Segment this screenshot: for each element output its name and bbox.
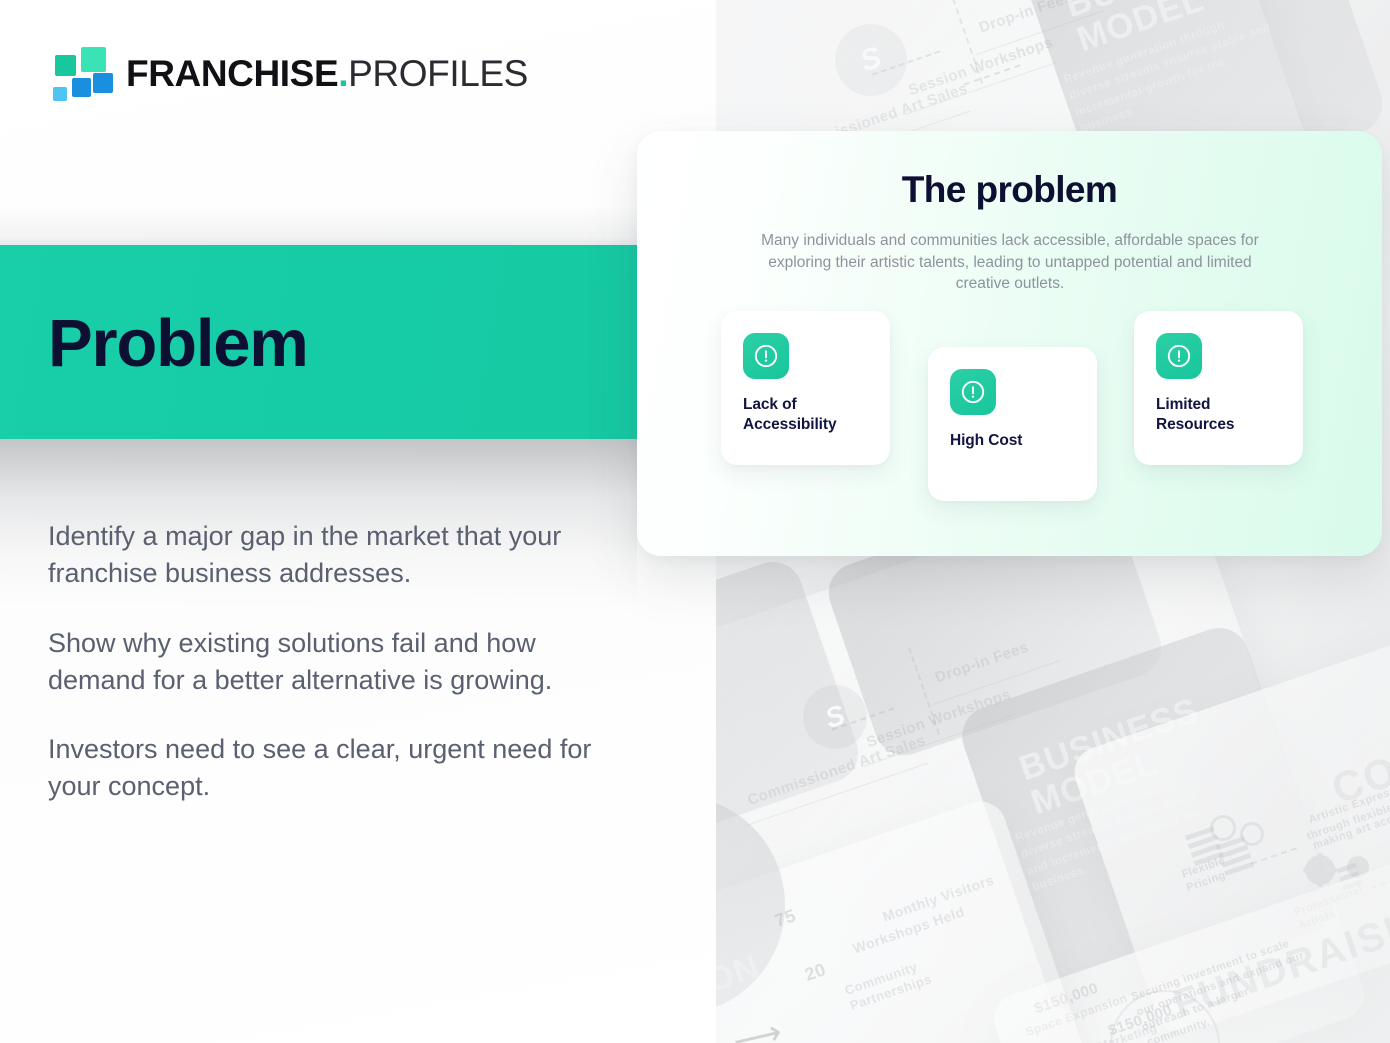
problem-tile-limited-resources[interactable]: Limited Resources — [1134, 311, 1303, 465]
problem-tile-label: High Cost — [950, 431, 1083, 451]
problem-tile-lack-of-accessibility[interactable]: Lack of Accessibility — [721, 311, 890, 465]
backdrop-gear-icon — [1305, 855, 1335, 885]
page-title: Problem — [48, 310, 308, 377]
slide-canvas: S Drop-in Fees Session Workshops Commiss… — [0, 0, 1390, 1043]
logo-squares-icon — [48, 45, 110, 103]
problem-tile-label: Lack of Accessibility — [743, 395, 876, 436]
brand-name-bold: FRANCHISE — [126, 53, 338, 94]
exclamation-circle-icon — [950, 369, 996, 415]
brand-name-light: PROFILES — [348, 53, 528, 94]
brand-wordmark: FRANCHISE.PROFILES — [126, 53, 528, 95]
slide-body-copy: Identify a major gap in the market that … — [48, 518, 628, 806]
brand-dot: . — [338, 53, 348, 94]
exclamation-circle-icon — [1156, 333, 1202, 379]
problem-tile-label: Limited Resources — [1156, 395, 1289, 436]
body-paragraph-3: Investors need to see a clear, urgent ne… — [48, 731, 628, 806]
problem-tile-high-cost[interactable]: High Cost — [928, 347, 1097, 501]
left-content-panel: FRANCHISE.PROFILES Problem Identify a ma… — [0, 0, 716, 1043]
problem-tiles-group: Lack of Accessibility High Cost — [637, 131, 1382, 556]
exclamation-circle-icon — [743, 333, 789, 379]
body-paragraph-2: Show why existing solutions fail and how… — [48, 625, 628, 700]
body-paragraph-1: Identify a major gap in the market that … — [48, 518, 628, 593]
band-top-shadow — [0, 205, 637, 247]
brand-logo[interactable]: FRANCHISE.PROFILES — [48, 42, 528, 106]
problem-preview-card[interactable]: The problem Many individuals and communi… — [637, 131, 1382, 556]
